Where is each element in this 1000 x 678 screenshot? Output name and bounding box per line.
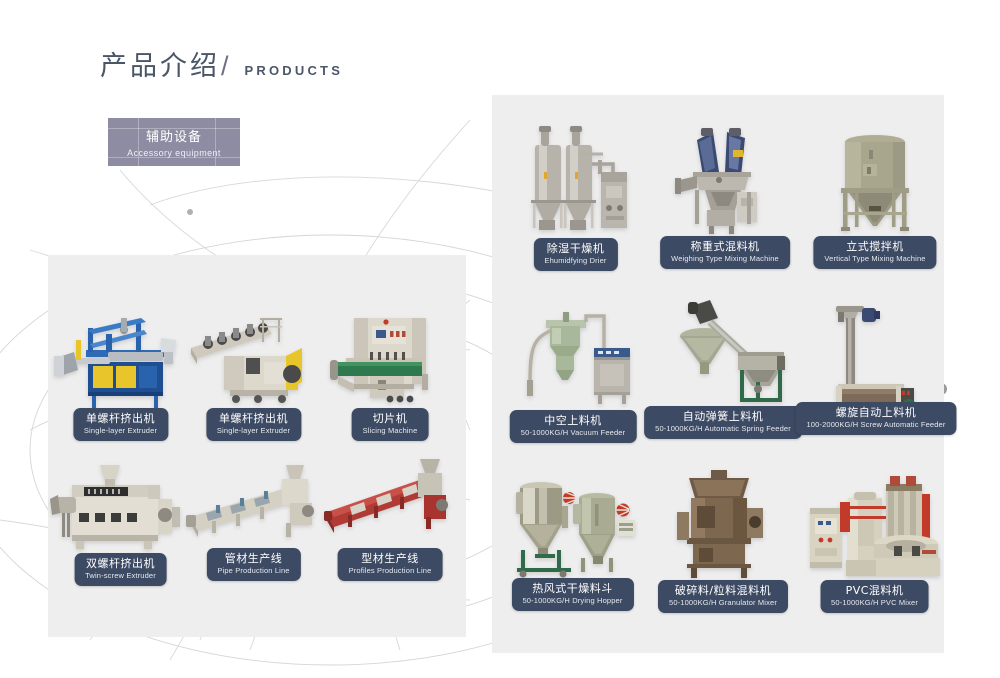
- product-name-en: Slicing Machine: [363, 426, 418, 436]
- product-name-en: 50-1000KG/H PVC Mixer: [831, 598, 918, 608]
- product-name-en: 50-1000KG/H Granulator Mixer: [669, 598, 777, 608]
- product-card-single-layer-extruder-2[interactable]: 单螺杆挤出机 Single-layer Extruder: [186, 300, 321, 440]
- product-name-en: Twin-screw Extruder: [85, 571, 156, 581]
- product-label[interactable]: 除湿干燥机 Ehumidfying Drier: [533, 238, 617, 271]
- product-name-en: 100-2000KG/H Screw Automatic Feeder: [806, 420, 945, 430]
- category-badge-label-cn: 辅助设备: [146, 126, 202, 145]
- product-label[interactable]: 称重式混料机 Weighing Type Mixing Machine: [660, 236, 790, 269]
- product-label[interactable]: 双螺杆挤出机 Twin-screw Extruder: [74, 553, 167, 586]
- screw-feeder-illustration: [812, 290, 940, 410]
- granulator-mixer-illustration: [663, 468, 783, 580]
- product-label[interactable]: 热风式干燥料斗 50-1000KG/H Drying Hopper: [511, 578, 633, 611]
- product-name-en: 50-1000KG/H Vacuum Feeder: [521, 428, 626, 438]
- product-card-weighing-type-mixing-machine[interactable]: 称重式混料机 Weighing Type Mixing Machine: [665, 118, 785, 266]
- badge-gridline: [215, 118, 216, 166]
- product-label[interactable]: 螺旋自动上料机 100-2000KG/H Screw Automatic Fee…: [795, 402, 956, 435]
- twin-screw-extruder-illustration: [48, 455, 193, 555]
- profiles-production-line-illustration: [324, 455, 456, 555]
- product-label[interactable]: 中空上料机 50-1000KG/H Vacuum Feeder: [510, 410, 637, 443]
- product-name-cn: 自动弹簧上料机: [655, 410, 791, 423]
- badge-gridline: [138, 118, 139, 166]
- product-label[interactable]: 单螺杆挤出机 Single-layer Extruder: [73, 408, 168, 441]
- product-name-en: Single-layer Extruder: [217, 426, 290, 436]
- drying-hopper-illustration: [505, 462, 640, 580]
- product-card-single-layer-extruder-1[interactable]: 单螺杆挤出机 Single-layer Extruder: [48, 300, 193, 440]
- product-card-pipe-production-line[interactable]: 管材生产线 Pipe Production Line: [186, 455, 321, 585]
- product-card-twin-screw-extruder[interactable]: 双螺杆挤出机 Twin-screw Extruder: [48, 455, 193, 585]
- product-card-pvc-mixer[interactable]: PVC混料机 50-1000KG/H PVC Mixer: [802, 468, 947, 602]
- dehumidifying-drier-illustration: [513, 120, 638, 235]
- product-card-profiles-production-line[interactable]: 型材生产线 Profiles Production Line: [324, 455, 456, 585]
- product-label[interactable]: 型材生产线 Profiles Production Line: [338, 548, 443, 581]
- category-badge-accessory-equipment[interactable]: 辅助设备 Accessory equipment: [108, 118, 240, 166]
- weighing-mixer-illustration: [665, 118, 785, 236]
- product-name-en: Ehumidfying Drier: [544, 256, 606, 266]
- product-name-cn: 热风式干燥料斗: [522, 582, 622, 595]
- slicing-machine-illustration: [324, 300, 456, 410]
- product-card-slicing-machine[interactable]: 切片机 Slicing Machine: [324, 300, 456, 440]
- product-label[interactable]: 自动弹簧上料机 50-1000KG/H Automatic Spring Fee…: [644, 406, 802, 439]
- product-label[interactable]: 管材生产线 Pipe Production Line: [206, 548, 300, 581]
- product-name-cn: 称重式混料机: [671, 240, 779, 253]
- product-name-cn: 螺旋自动上料机: [806, 406, 945, 419]
- product-name-cn: 除湿干燥机: [544, 242, 606, 255]
- product-card-screw-automatic-feeder[interactable]: 螺旋自动上料机 100-2000KG/H Screw Automatic Fee…: [812, 290, 940, 440]
- product-name-en: 50-1000KG/H Drying Hopper: [522, 596, 622, 606]
- pvc-mixer-illustration: [802, 468, 947, 580]
- product-label[interactable]: 立式搅拌机 Vertical Type Mixing Machine: [813, 236, 936, 269]
- product-name-cn: 管材生产线: [217, 552, 289, 565]
- product-name-en: Vertical Type Mixing Machine: [824, 254, 925, 264]
- category-badge-label-en: Accessory equipment: [127, 148, 221, 158]
- product-card-granulator-mixer[interactable]: 破碎料/粒料混料机 50-1000KG/H Granulator Mixer: [663, 468, 783, 602]
- product-name-cn: 双螺杆挤出机: [85, 557, 156, 570]
- product-label[interactable]: 单螺杆挤出机 Single-layer Extruder: [206, 408, 301, 441]
- product-name-cn: 破碎料/粒料混料机: [669, 584, 777, 597]
- page-title-en: PRODUCTS: [245, 63, 344, 78]
- single-layer-extruder-illustration: [48, 300, 193, 410]
- page-title-cn: 产品介绍: [100, 44, 220, 83]
- product-card-automatic-spring-feeder[interactable]: 自动弹簧上料机 50-1000KG/H Automatic Spring Fee…: [658, 294, 788, 440]
- product-card-vertical-type-mixing-machine[interactable]: 立式搅拌机 Vertical Type Mixing Machine: [815, 118, 935, 266]
- page-title: 产品介绍 / PRODUCTS: [100, 44, 343, 83]
- vertical-mixer-illustration: [815, 118, 935, 236]
- product-name-cn: 切片机: [363, 412, 418, 425]
- roller-extruder-illustration: [186, 300, 321, 410]
- product-name-cn: PVC混料机: [831, 584, 918, 597]
- spring-feeder-illustration: [658, 294, 788, 410]
- product-name-cn: 单螺杆挤出机: [217, 412, 290, 425]
- product-name-en: Profiles Production Line: [349, 566, 432, 576]
- product-card-ehumidfying-drier[interactable]: 除湿干燥机 Ehumidfying Drier: [513, 120, 638, 265]
- product-name-cn: 中空上料机: [521, 414, 626, 427]
- product-label[interactable]: 破碎料/粒料混料机 50-1000KG/H Granulator Mixer: [658, 580, 788, 613]
- product-name-cn: 立式搅拌机: [824, 240, 925, 253]
- pipe-production-line-illustration: [186, 455, 321, 555]
- product-name-cn: 单螺杆挤出机: [84, 412, 157, 425]
- vacuum-feeder-illustration: [508, 298, 638, 410]
- product-name-en: Weighing Type Mixing Machine: [671, 254, 779, 264]
- product-card-drying-hopper[interactable]: 热风式干燥料斗 50-1000KG/H Drying Hopper: [505, 462, 640, 602]
- product-name-en: Single-layer Extruder: [84, 426, 157, 436]
- product-label[interactable]: PVC混料机 50-1000KG/H PVC Mixer: [820, 580, 929, 613]
- product-name-en: Pipe Production Line: [217, 566, 289, 576]
- product-name-en: 50-1000KG/H Automatic Spring Feeder: [655, 424, 791, 434]
- product-name-cn: 型材生产线: [349, 552, 432, 565]
- page-title-slash: /: [221, 51, 229, 82]
- catalog-page: 产品介绍 / PRODUCTS 辅助设备 Accessory equipment: [0, 0, 1000, 678]
- product-card-vacuum-feeder[interactable]: 中空上料机 50-1000KG/H Vacuum Feeder: [508, 298, 638, 440]
- product-label[interactable]: 切片机 Slicing Machine: [352, 408, 429, 441]
